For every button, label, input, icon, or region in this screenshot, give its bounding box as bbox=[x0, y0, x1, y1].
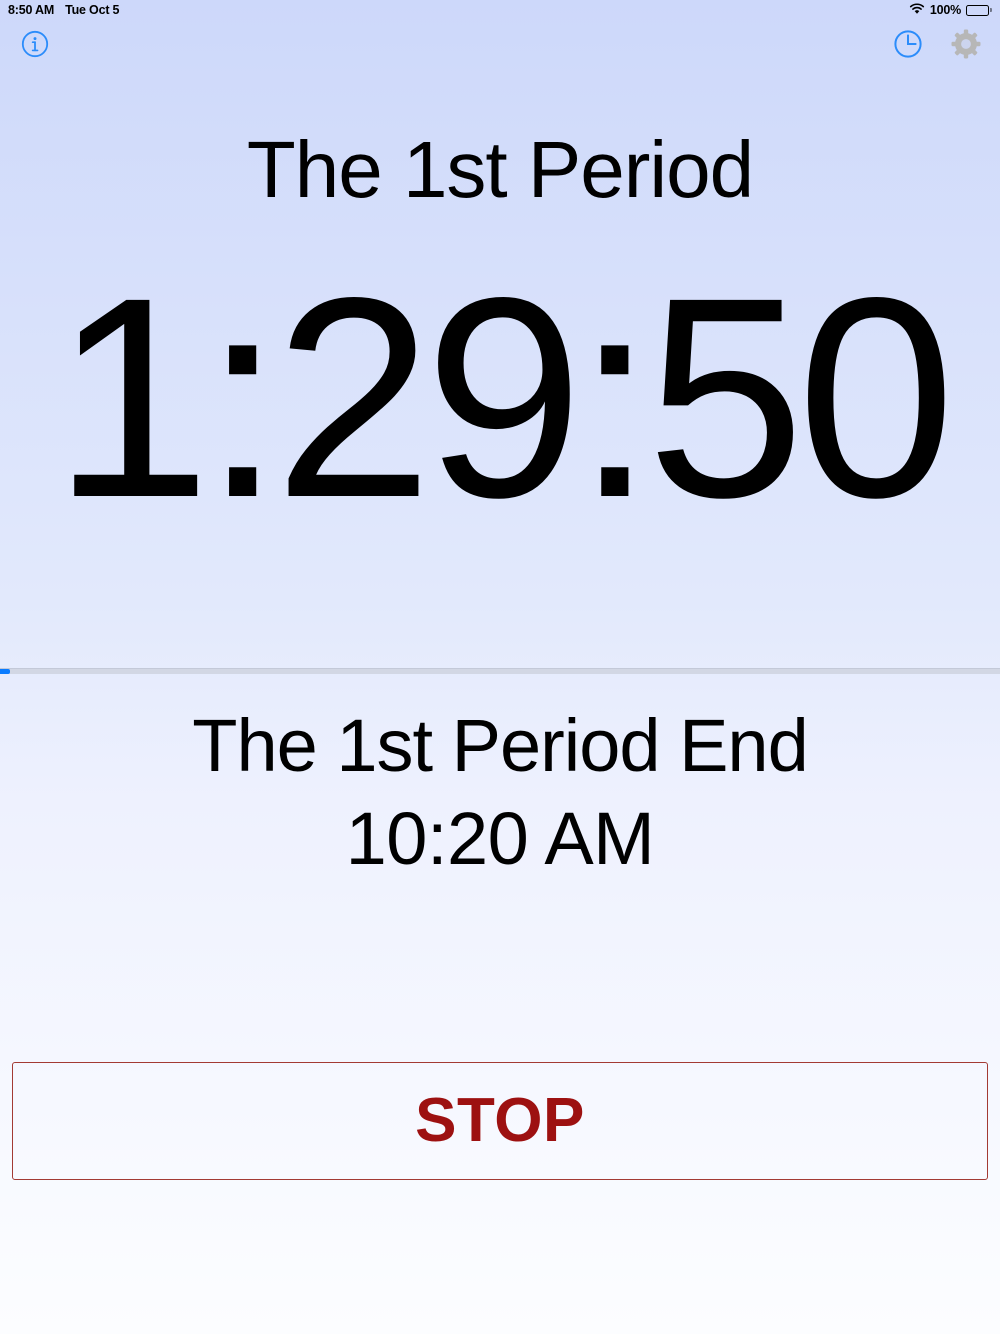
clock-icon[interactable] bbox=[892, 28, 924, 60]
status-bar-date: Tue Oct 5 bbox=[65, 3, 119, 17]
gear-icon[interactable] bbox=[950, 28, 982, 60]
wifi-icon bbox=[909, 3, 925, 18]
battery-full-icon bbox=[966, 5, 992, 16]
status-bar-time: 8:50 AM bbox=[8, 3, 54, 17]
status-bar-right: 100% bbox=[909, 3, 992, 18]
status-bar-left: 8:50 AM Tue Oct 5 bbox=[8, 3, 119, 17]
nav-bar bbox=[0, 20, 1000, 68]
period-end-label: The 1st Period End bbox=[192, 708, 807, 783]
period-title: The 1st Period bbox=[247, 130, 753, 210]
battery-percent-label: 100% bbox=[930, 3, 961, 17]
info-circle-icon[interactable] bbox=[20, 29, 50, 59]
countdown-display: 1:29:50 bbox=[53, 282, 948, 516]
timer-app-screen: 8:50 AM Tue Oct 5 100% bbox=[0, 0, 1000, 1334]
stop-button[interactable]: STOP bbox=[12, 1062, 988, 1180]
nav-bar-actions bbox=[892, 28, 982, 60]
stop-button-label: STOP bbox=[415, 1090, 585, 1152]
period-end-time: 10:20 AM bbox=[346, 801, 655, 876]
status-bar: 8:50 AM Tue Oct 5 100% bbox=[0, 0, 1000, 20]
current-period-panel: The 1st Period 1:29:50 bbox=[0, 68, 1000, 668]
next-event-panel: The 1st Period End 10:20 AM STOP bbox=[0, 674, 1000, 1334]
